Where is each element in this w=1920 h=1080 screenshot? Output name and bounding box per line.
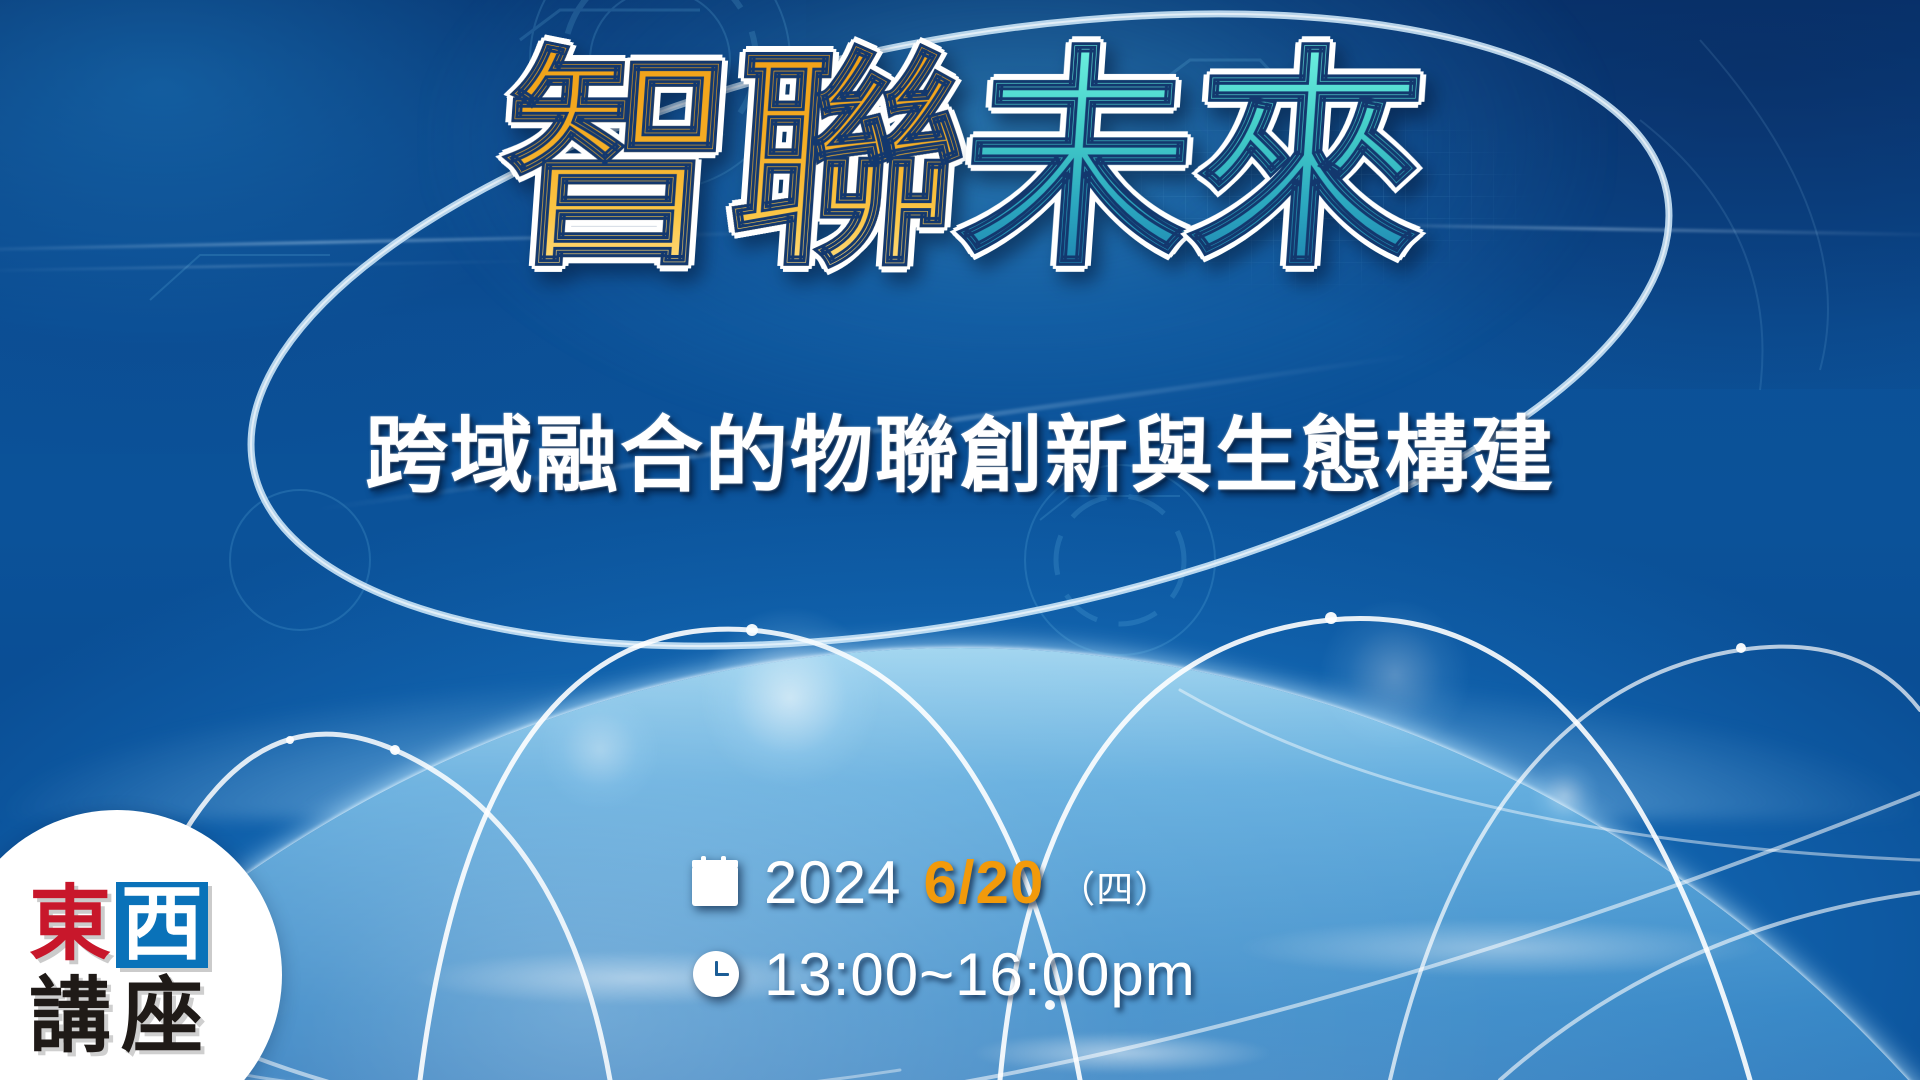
- lens-flare: [1530, 760, 1600, 830]
- logo-char-xi: 西: [116, 882, 208, 968]
- event-time-row: 13:00~16:00pm: [690, 937, 1196, 1011]
- clock-icon: [690, 948, 742, 1000]
- poster-subtitle: 跨域融合的物聯創新與生態構建: [0, 388, 1920, 508]
- title-char-4: 來: [1182, 44, 1429, 281]
- event-weekday: （四）: [1058, 859, 1172, 913]
- title-char-3: 未: [952, 44, 1199, 281]
- title-char-2: 聯: [722, 44, 969, 281]
- poster-title: 智聯未來: [0, 44, 1920, 281]
- lens-flare: [1320, 600, 1470, 750]
- logo-glyphs: 東 西 講 座: [24, 882, 234, 1072]
- event-year: 2024: [764, 848, 901, 917]
- calendar-icon: [690, 856, 742, 908]
- event-time: 13:00~16:00pm: [764, 940, 1196, 1009]
- event-date: 6/20: [923, 848, 1044, 917]
- logo-char-zuo: 座: [116, 974, 208, 1060]
- event-date-row: 2024 6/20 （四）: [690, 845, 1196, 919]
- logo-char-jiang: 講: [24, 974, 116, 1060]
- event-info-block: 2024 6/20 （四） 13:00~16:00pm: [690, 845, 1196, 1011]
- title-char-1: 智: [492, 44, 739, 281]
- lens-flare: [700, 608, 880, 788]
- event-poster: 智聯未來 跨域融合的物聯創新與生態構建 2024 6/20 （四） 13:: [0, 0, 1920, 1080]
- logo-char-dong: 東: [24, 882, 116, 968]
- lens-flare: [540, 690, 660, 810]
- main-title-text: 智聯未來: [492, 44, 1429, 281]
